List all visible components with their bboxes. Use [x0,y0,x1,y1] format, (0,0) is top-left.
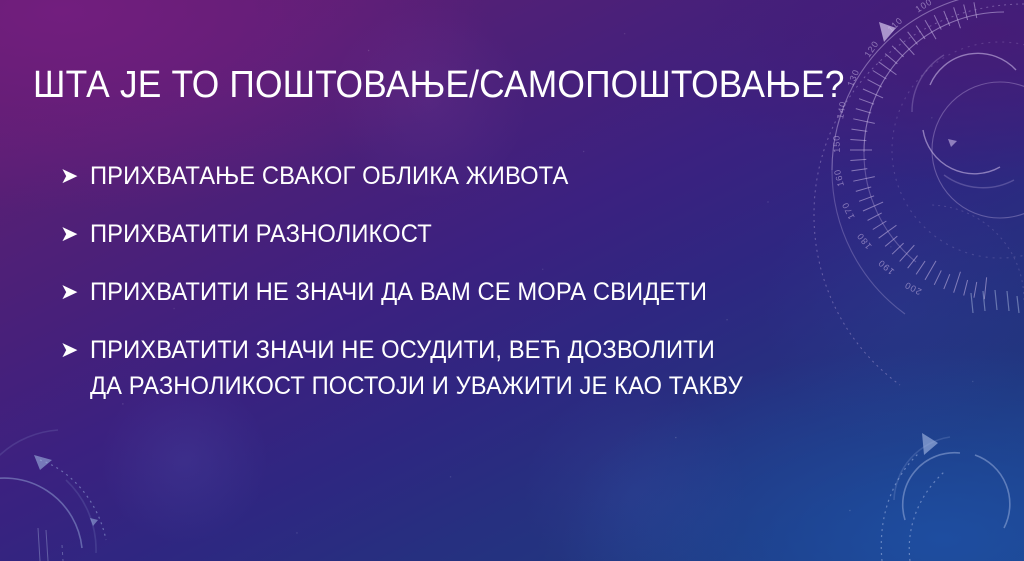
list-item: ➤ ПРИХВАТИТИ РАЗНОЛИКОСТ [60,216,960,252]
dial-pointer-icon [879,22,896,42]
edge-rules-bottom-left [38,528,63,561]
dotted-arc-bottom-left [40,460,106,540]
broken-ring-bottom-left [0,430,96,553]
dial-label-120: 120 [862,39,880,60]
dial-label-150: 150 [831,134,842,152]
hash-marks-right [971,290,1019,313]
slide-canvas: 80 90 100 110 120 130 140 150 160 170 18… [0,0,1024,561]
arrow-head-bottom-right-icon [922,433,938,455]
curved-dotted-arrow-bottom-right [881,452,944,561]
bullet-list: ➤ ПРИХВАТАЊЕ СВАКОГ ОБЛИКА ЖИВОТА ➤ ПРИХ… [60,158,960,426]
list-item-label: ПРИХВАТИТИ НЕ ЗНАЧИ ДА ВАМ СЕ МОРА СВИДЕ… [90,274,917,310]
arrow-bullet-icon: ➤ [60,216,90,252]
list-item: ➤ ПРИХВАТИТИ ЗНАЧИ НЕ ОСУДИТИ, ВЕЋ ДОЗВО… [60,332,960,404]
page-title: ШТА ЈЕ ТО ПОШТОВАЊЕ/САМОПОШТОВАЊЕ? [33,62,907,108]
arrow-bullet-icon: ➤ [60,274,90,310]
list-item: ➤ ПРИХВАТАЊЕ СВАКОГ ОБЛИКА ЖИВОТА [60,158,960,194]
dial-label-100: 100 [914,0,935,14]
list-item: ➤ ПРИХВАТИТИ НЕ ЗНАЧИ ДА ВАМ СЕ МОРА СВИ… [60,274,960,310]
list-item-label: ПРИХВАТИТИ ЗНАЧИ НЕ ОСУДИТИ, ВЕЋ ДОЗВОЛИ… [90,332,917,404]
broken-ring-bottom-right [894,437,1010,528]
arrow-head-bottom-left-icon [34,455,52,470]
dial-label-90: 90 [945,0,960,1]
ring-arrow-marker-icon [948,139,957,147]
list-item-label: ПРИХВАТАЊЕ СВАКОГ ОБЛИКА ЖИВОТА [90,158,917,194]
dial-label-110: 110 [885,15,904,34]
arrow-bullet-icon: ➤ [60,158,90,194]
arrow-tip-bottom-left-icon [90,518,98,526]
list-item-label: ПРИХВАТИТИ РАЗНОЛИКОСТ [90,216,917,252]
arrow-bullet-icon: ➤ [60,332,90,368]
